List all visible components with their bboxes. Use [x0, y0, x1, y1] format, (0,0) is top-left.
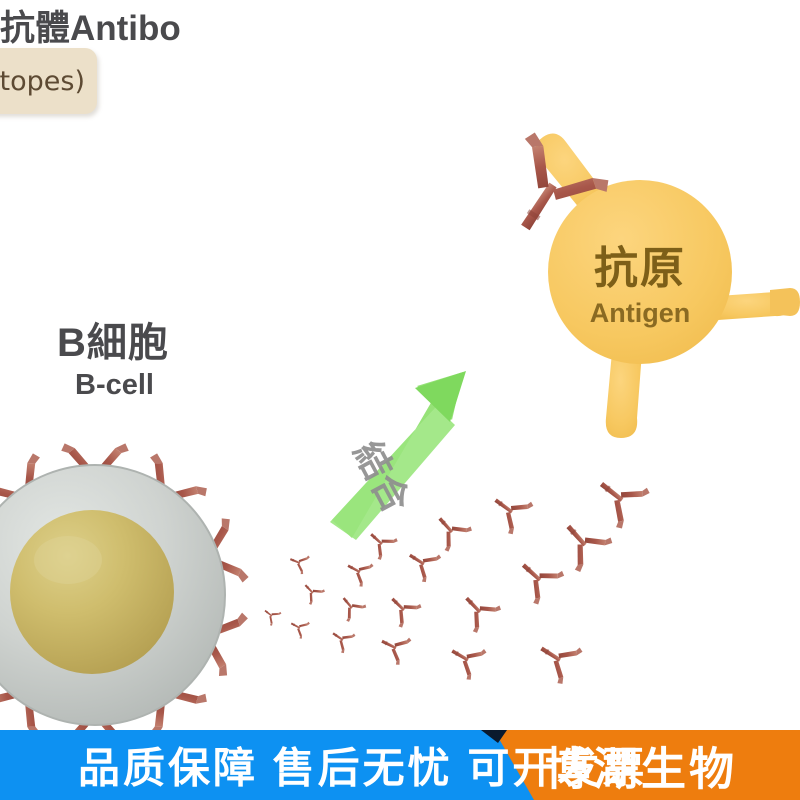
epitopes-label-chip: Epitopes) — [0, 48, 97, 114]
bcell-body — [0, 465, 225, 725]
bcell-label: B細胞 B-cell — [57, 322, 169, 400]
bcell-label-cn: B細胞 — [57, 322, 169, 364]
epitopes-label-text: Epitopes) — [0, 66, 85, 97]
banner-brand-text: 博湖生物 — [545, 733, 737, 798]
antibody-swarm — [260, 464, 651, 685]
bcell-label-en: B-cell — [75, 370, 169, 400]
diagram-canvas: Epitopes) B細胞 B-cell 抗原 Antigen 結合 抗體Ant… — [0, 0, 800, 800]
promo-banner: 品质保障 售后无忧 可开发票 博湖生物 — [0, 730, 800, 800]
antigen-body — [536, 133, 800, 438]
